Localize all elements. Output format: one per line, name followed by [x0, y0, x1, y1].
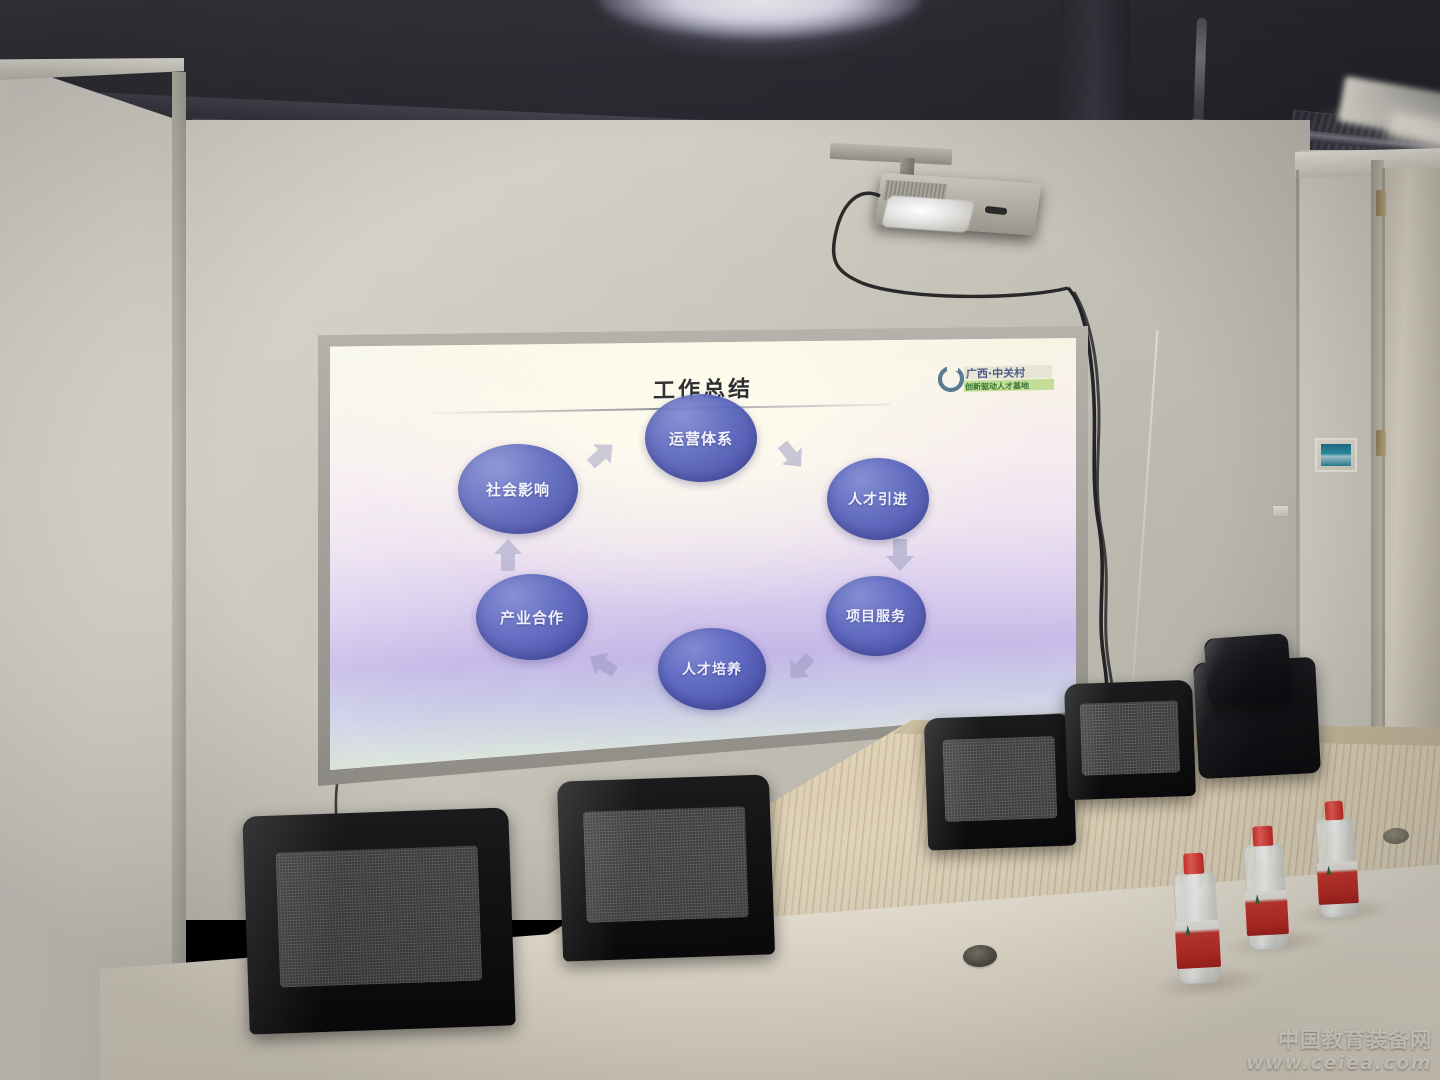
bottle-label	[1175, 920, 1221, 969]
door-hinge-bottom-icon	[1376, 430, 1386, 456]
cycle-node-industry-cooperation: 产业合作	[476, 574, 588, 660]
chair-highlight	[924, 713, 1077, 850]
bottle-cap	[1324, 801, 1343, 821]
projection-screen[interactable]: 工作总结 广西·中关村 创新驱动人才基地	[330, 338, 1076, 770]
wall-control-panel-screen	[1321, 444, 1351, 466]
bottle-neck	[1186, 873, 1203, 887]
cycle-node-talent-training: 人才培养	[658, 628, 766, 710]
wall-control-panel[interactable]	[1315, 438, 1357, 472]
chair-4[interactable]	[1064, 680, 1196, 800]
watermark: 中国教育装备网 www.ceiea.com	[1246, 1029, 1432, 1074]
cycle-node-operating-system: 运营体系	[645, 394, 757, 482]
bottle-neck	[1327, 819, 1343, 832]
watermark-url: www.ceiea.com	[1246, 1053, 1432, 1074]
chair-highlight	[1064, 680, 1196, 800]
watermark-chinese: 中国教育装备网	[1246, 1029, 1432, 1053]
cycle-node-label: 产业合作	[500, 607, 564, 628]
projector-lens-icon	[881, 195, 975, 233]
bottle-label	[1245, 890, 1289, 937]
water-bottle-3[interactable]	[1315, 817, 1358, 919]
left-wall-column	[0, 60, 182, 1080]
bottle-label	[1317, 861, 1359, 905]
water-bottle-2[interactable]	[1243, 843, 1288, 951]
cycle-node-label: 项目服务	[846, 606, 906, 626]
door-hinge-top-icon	[1376, 190, 1386, 216]
bottle-cap	[1183, 853, 1204, 875]
bottle-cap	[1253, 826, 1273, 847]
chair-highlight	[1204, 633, 1293, 707]
chair-1[interactable]	[242, 807, 515, 1034]
bottle-neck	[1255, 845, 1272, 859]
chair-2[interactable]	[557, 774, 775, 961]
cycle-node-project-services: 项目服务	[826, 576, 926, 656]
cycle-node-label: 运营体系	[669, 428, 733, 449]
cycle-node-social-impact: 社会影响	[458, 444, 578, 534]
cycle-node-label: 人才引进	[848, 489, 908, 509]
cycle-node-label: 社会影响	[486, 479, 550, 500]
cycle-node-label: 人才培养	[682, 659, 742, 679]
chair-3[interactable]	[924, 713, 1077, 850]
chair-highlight	[242, 807, 515, 1034]
cycle-node-talent-recruitment: 人才引进	[827, 458, 929, 540]
light-switch[interactable]	[1272, 505, 1289, 517]
chair-6[interactable]	[1204, 633, 1293, 707]
meeting-room-scene: 工作总结 广西·中关村 创新驱动人才基地	[0, 0, 1440, 1080]
water-bottle-1[interactable]	[1173, 871, 1221, 985]
chair-highlight	[557, 774, 775, 961]
left-wall-column-edge	[172, 72, 186, 1080]
